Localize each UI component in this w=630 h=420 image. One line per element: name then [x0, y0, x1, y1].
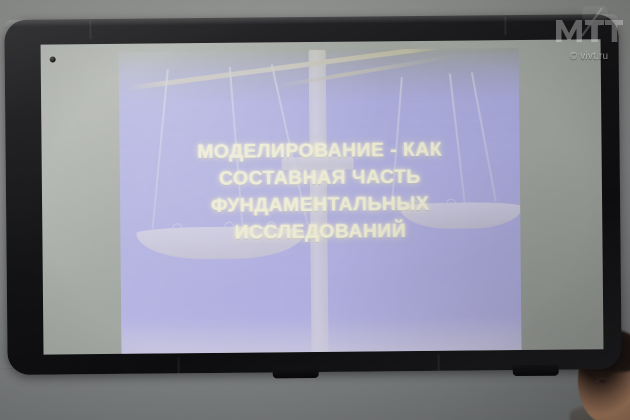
frame-notch [438, 355, 440, 371]
projected-slide: МОДЕЛИРОВАНИЕ - КАК СОСТАВНАЯ ЧАСТЬ ФУНД… [119, 48, 522, 354]
frame-notch [178, 357, 180, 373]
frame-segment-joint [504, 17, 506, 35]
screenshot-root: МОДЕЛИРОВАНИЕ - КАК СОСТАВНАЯ ЧАСТЬ ФУНД… [0, 0, 630, 420]
whiteboard-marker-dot [50, 56, 56, 62]
slide-title: МОДЕЛИРОВАНИЕ - КАК СОСТАВНАЯ ЧАСТЬ ФУНД… [119, 136, 520, 248]
person-eye [596, 378, 609, 384]
frame-mount-tab [513, 365, 559, 376]
frame-segment-joint [89, 21, 91, 39]
whiteboard-surface: МОДЕЛИРОВАНИЕ - КАК СОСТАВНАЯ ЧАСТЬ ФУНД… [41, 39, 604, 354]
frame-mount-tab [273, 367, 319, 378]
scales-base-glow [121, 316, 521, 354]
whiteboard-frame: МОДЕЛИРОВАНИЕ - КАК СОСТАВНАЯ ЧАСТЬ ФУНД… [4, 14, 621, 375]
